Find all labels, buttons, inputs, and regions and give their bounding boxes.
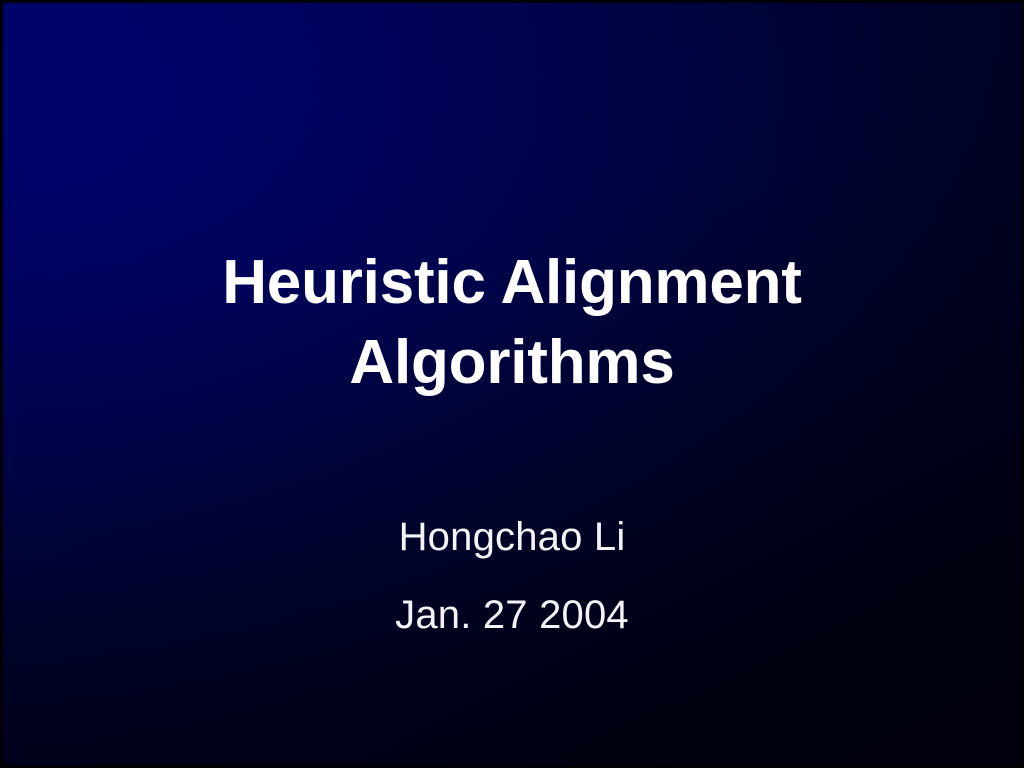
slide-content: Heuristic Alignment Algorithms Hongchao … [0, 0, 1024, 768]
slide-title: Heuristic Alignment Algorithms [0, 243, 1024, 403]
slide-subtitle: Hongchao Li Jan. 27 2004 [0, 498, 1024, 654]
slide-title-line-1: Heuristic Alignment [0, 243, 1024, 323]
slide-date: Jan. 27 2004 [0, 576, 1024, 654]
slide-title-line-2: Algorithms [0, 323, 1024, 403]
presentation-slide: Heuristic Alignment Algorithms Hongchao … [0, 0, 1024, 768]
slide-author: Hongchao Li [0, 498, 1024, 576]
